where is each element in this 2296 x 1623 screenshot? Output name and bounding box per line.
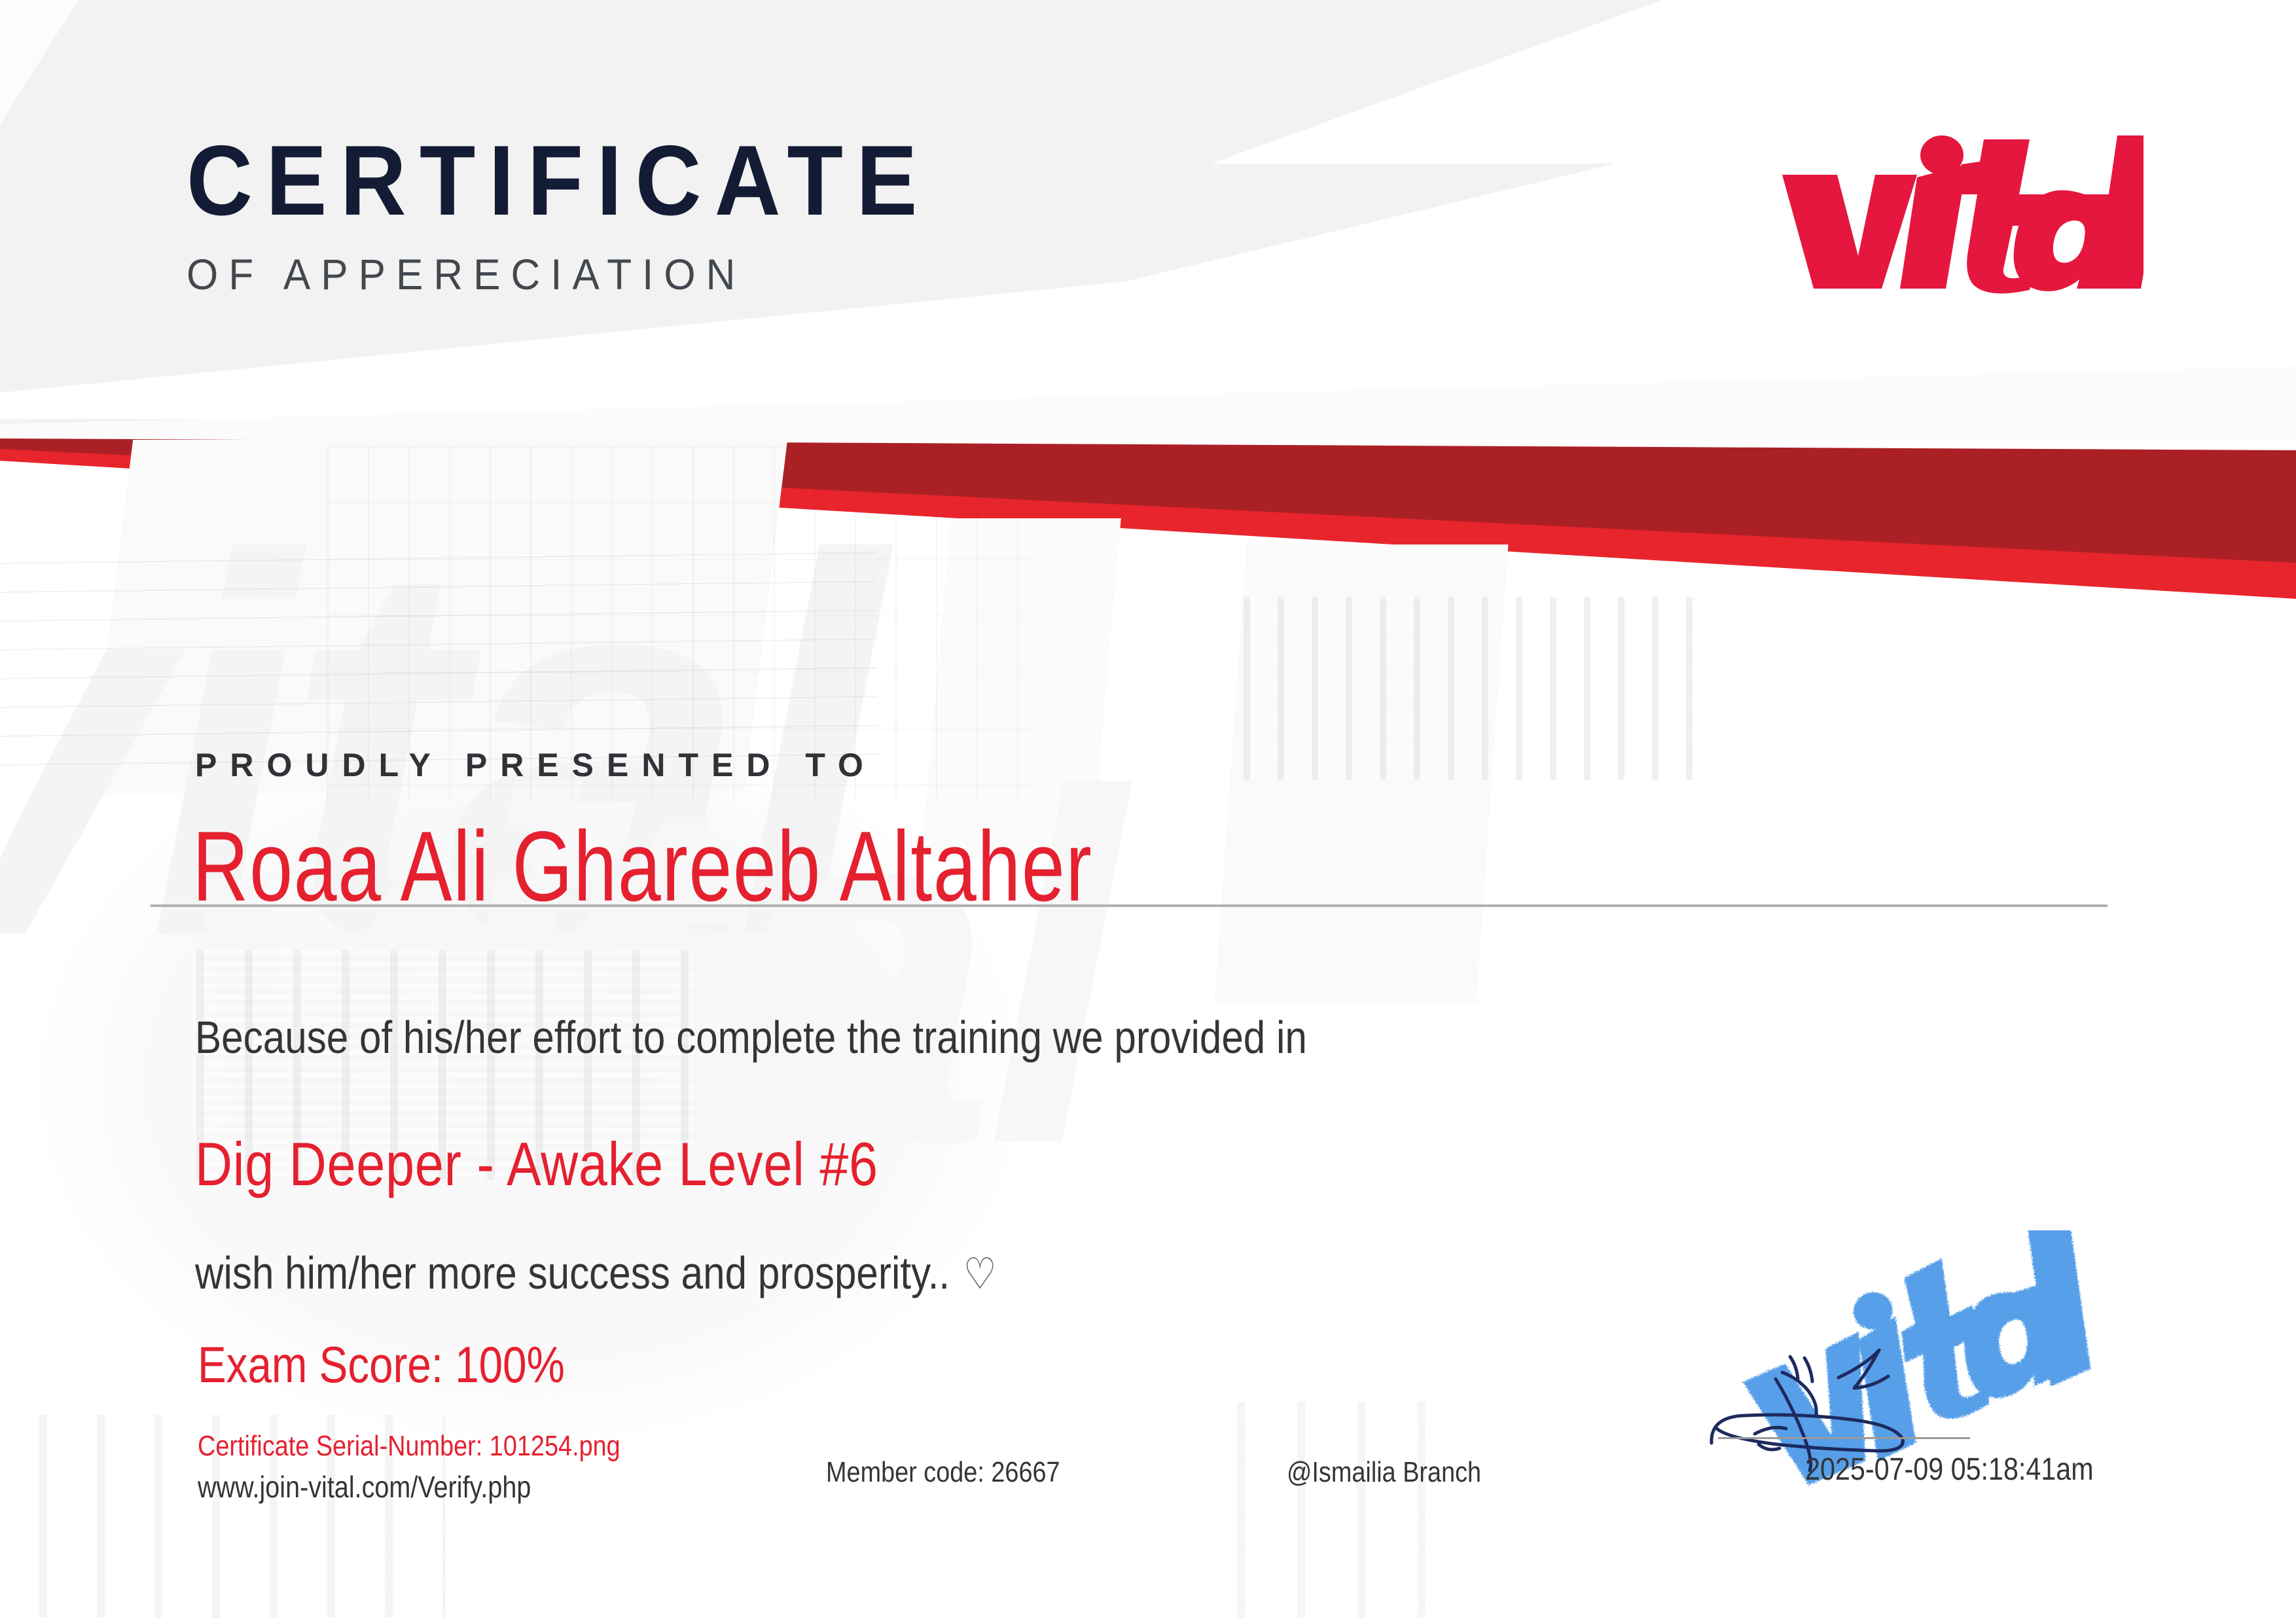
title-block: CERTIFICATE OF APPERECIATION xyxy=(187,131,996,296)
wish-line: wish him/her more success and prosperity… xyxy=(195,1247,997,1299)
certificate-page: vital vital CERTIFICATE OF APPERECIATION xyxy=(0,0,2296,1623)
signature-underline xyxy=(1718,1437,1970,1439)
issued-timestamp: 2025-07-09 05:18:41am xyxy=(1805,1452,2094,1488)
member-code: Member code: 26667 xyxy=(826,1456,1060,1489)
branch-name: @Ismailia Branch xyxy=(1287,1456,1481,1489)
recipient-name-underline xyxy=(151,904,2108,907)
heart-icon: ♡ xyxy=(950,1249,997,1298)
recipient-name: Roaa Ali Ghareeb Altaher xyxy=(192,808,1092,925)
course-title: Dig Deeper - Awake Level #6 xyxy=(195,1129,878,1200)
exam-score: Exam Score: 100% xyxy=(198,1335,565,1395)
certificate-serial-number: Certificate Serial-Number: 101254.png xyxy=(198,1430,620,1463)
verify-url[interactable]: www.join-vital.com/Verify.php xyxy=(198,1469,531,1505)
certificate-title: CERTIFICATE xyxy=(187,131,931,230)
reason-line: Because of his/her effort to complete th… xyxy=(195,1011,1307,1063)
signature-mark xyxy=(1698,1279,2013,1476)
vital-logo xyxy=(1777,134,2144,298)
presented-to-label: PROUDLY PRESENTED TO xyxy=(195,746,876,784)
wish-text: wish him/her more success and prosperity… xyxy=(195,1247,950,1298)
certificate-content: CERTIFICATE OF APPERECIATION xyxy=(0,0,2296,1623)
certificate-subtitle: OF APPERECIATION xyxy=(187,253,946,296)
